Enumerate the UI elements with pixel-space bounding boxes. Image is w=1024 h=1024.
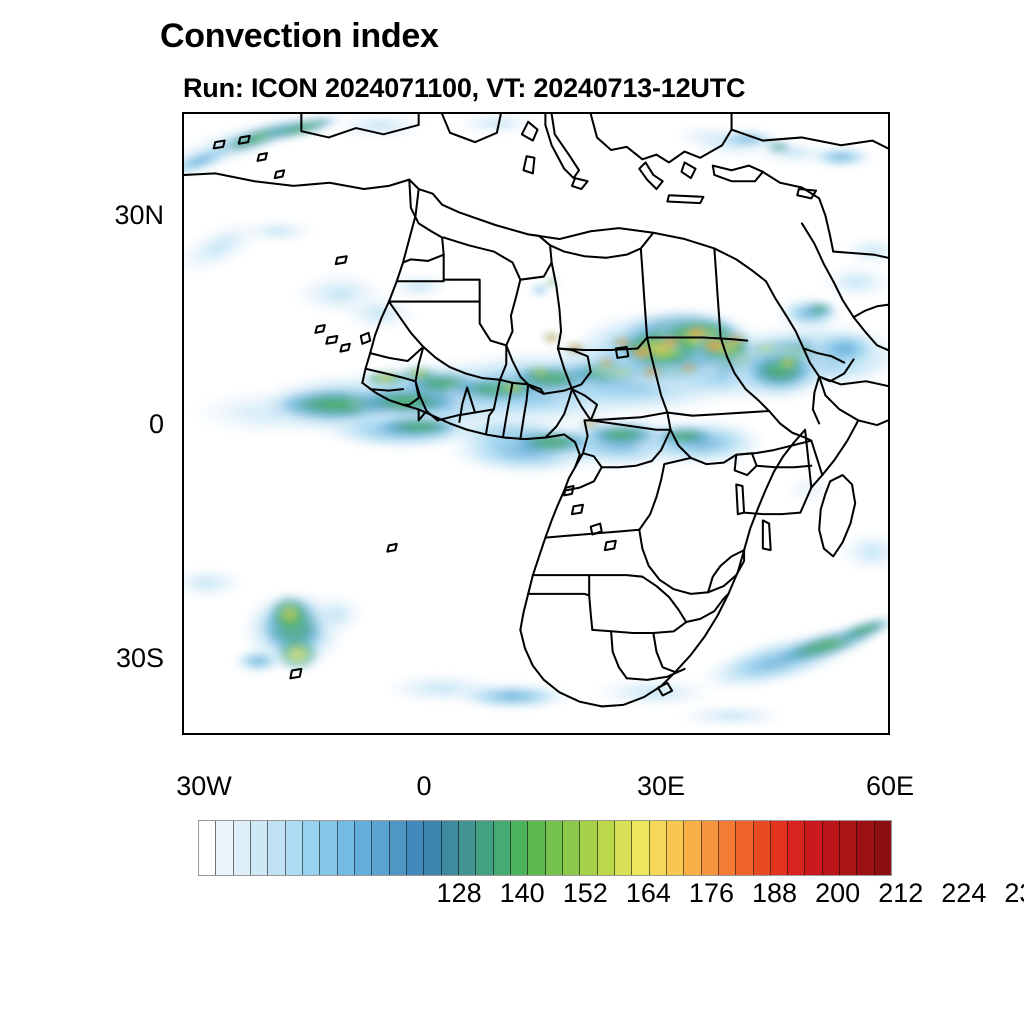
colorbar-tick-label: 188 [752, 878, 797, 909]
colorbar-tick-label: 236 [1004, 878, 1024, 909]
colorbar-cell [840, 821, 857, 875]
colorbar-tick-label: 140 [500, 878, 545, 909]
colorbar-cell [563, 821, 580, 875]
x-axis-label-30w: 30W [176, 771, 232, 802]
colorbar-cell [338, 821, 355, 875]
colorbar-cells[interactable] [198, 820, 892, 876]
colorbar-cell [632, 821, 649, 875]
colorbar-tick-label: 212 [878, 878, 923, 909]
colorbar-cell [355, 821, 372, 875]
x-axis-label-30e: 30E [637, 771, 685, 802]
colorbar-cell [650, 821, 667, 875]
colorbar-cell [407, 821, 424, 875]
x-axis-label-0: 0 [416, 771, 431, 802]
x-axis-label-60e: 60E [866, 771, 914, 802]
colorbar-cell [684, 821, 701, 875]
colorbar-tick-label: 152 [563, 878, 608, 909]
colorbar-cell [702, 821, 719, 875]
colorbar-cell [875, 821, 891, 875]
colorbar-cell [771, 821, 788, 875]
colorbar-cell [805, 821, 822, 875]
colorbar-cell [199, 821, 216, 875]
colorbar-cell [476, 821, 493, 875]
colorbar-cell [320, 821, 337, 875]
colorbar-cell [580, 821, 597, 875]
colorbar-cell [303, 821, 320, 875]
colorbar-cell [268, 821, 285, 875]
colorbar[interactable]: 128140152164176188200212224236 [198, 820, 892, 876]
colorbar-tick-label: 176 [689, 878, 734, 909]
colorbar-cell [719, 821, 736, 875]
colorbar-tick-label: 224 [941, 878, 986, 909]
colorbar-cell [788, 821, 805, 875]
colorbar-cell [459, 821, 476, 875]
colorbar-labels: 128140152164176188200212224236 [198, 878, 1024, 924]
colorbar-cell [390, 821, 407, 875]
figure-root: Convection index Run: ICON 2024071100, V… [0, 0, 1024, 1024]
colorbar-cell [754, 821, 771, 875]
colorbar-tick-label: 164 [626, 878, 671, 909]
colorbar-cell [546, 821, 563, 875]
colorbar-cell [424, 821, 441, 875]
colorbar-cell [823, 821, 840, 875]
colorbar-cell [286, 821, 303, 875]
colorbar-cell [667, 821, 684, 875]
colorbar-cell [615, 821, 632, 875]
colorbar-cell [234, 821, 251, 875]
colorbar-cell [736, 821, 753, 875]
colorbar-tick-label: 128 [437, 878, 482, 909]
colorbar-cell [442, 821, 459, 875]
colorbar-tick-label: 200 [815, 878, 860, 909]
colorbar-cell [598, 821, 615, 875]
colorbar-cell [372, 821, 389, 875]
colorbar-cell [494, 821, 511, 875]
colorbar-cell [511, 821, 528, 875]
colorbar-cell [251, 821, 268, 875]
colorbar-cell [216, 821, 233, 875]
colorbar-cell [857, 821, 874, 875]
colorbar-cell [528, 821, 545, 875]
